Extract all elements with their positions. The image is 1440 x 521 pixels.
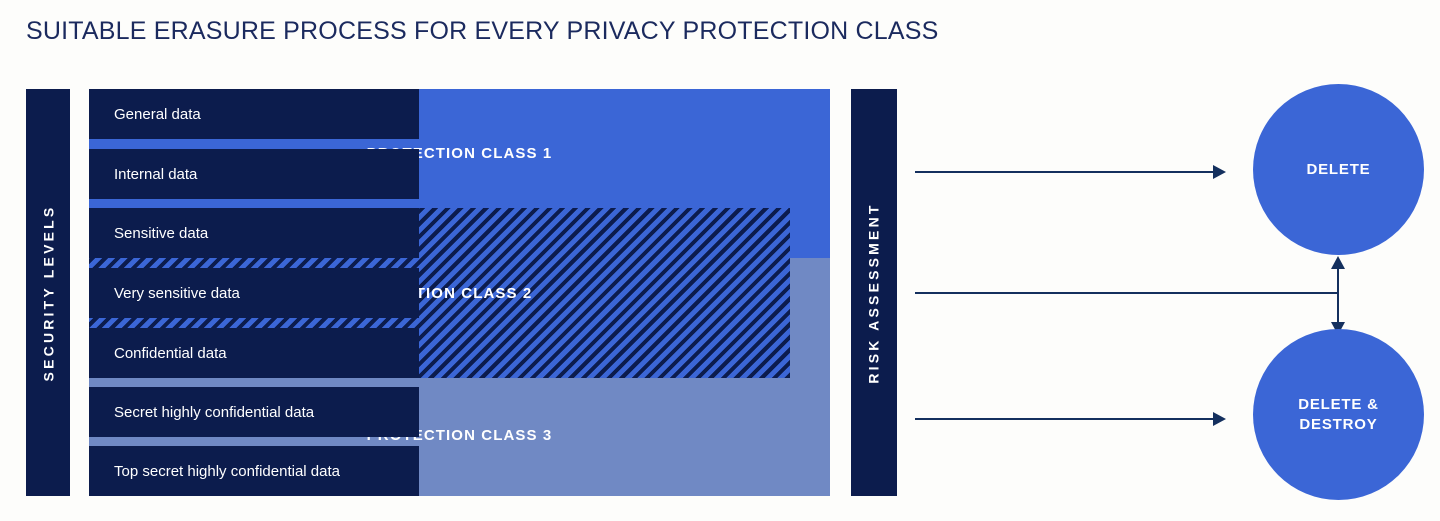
outcome-delete-destroy-label: DELETE & DESTROY bbox=[1298, 395, 1379, 435]
arrow-head-up-icon bbox=[1331, 256, 1345, 269]
outcome-line-2: DESTROY bbox=[1299, 416, 1377, 433]
security-level-row-very-sensitive-data[interactable]: Very sensitive data bbox=[89, 268, 419, 318]
security-levels-axis-label: SECURITY LEVELS bbox=[40, 204, 56, 381]
arrow-head-icon bbox=[1213, 412, 1226, 426]
outcome-delete-label: DELETE bbox=[1307, 160, 1371, 180]
arrow-class2-to-decision bbox=[915, 292, 1339, 294]
security-levels-axis-bar: SECURITY LEVELS bbox=[26, 89, 70, 496]
security-level-label: Sensitive data bbox=[89, 225, 208, 242]
security-level-label: Confidential data bbox=[89, 345, 227, 362]
arrow-class3-to-delete-destroy bbox=[915, 418, 1215, 420]
outcome-delete-destroy-circle[interactable]: DELETE & DESTROY bbox=[1253, 329, 1424, 500]
risk-assessment-axis-label: RISK ASSESSMENT bbox=[866, 202, 882, 383]
security-level-label: Internal data bbox=[89, 166, 197, 183]
security-level-row-secret-highly-confidential-data[interactable]: Secret highly confidential data bbox=[89, 387, 419, 437]
arrow-class1-to-delete bbox=[915, 171, 1215, 173]
risk-assessment-axis-bar: RISK ASSESSMENT bbox=[851, 89, 897, 496]
security-level-label: General data bbox=[89, 106, 201, 123]
outcome-delete-circle[interactable]: DELETE bbox=[1253, 84, 1424, 255]
security-level-label: Secret highly confidential data bbox=[89, 404, 314, 421]
security-level-row-general-data[interactable]: General data bbox=[89, 89, 419, 139]
security-level-row-confidential-data[interactable]: Confidential data bbox=[89, 328, 419, 378]
security-level-row-internal-data[interactable]: Internal data bbox=[89, 149, 419, 199]
page-title: SUITABLE ERASURE PROCESS FOR EVERY PRIVA… bbox=[26, 17, 939, 46]
security-level-row-sensitive-data[interactable]: Sensitive data bbox=[89, 208, 419, 258]
outcome-line-1: DELETE & bbox=[1298, 396, 1379, 413]
double-arrow-connector bbox=[1337, 266, 1339, 324]
security-level-label: Very sensitive data bbox=[89, 285, 240, 302]
arrow-head-icon bbox=[1213, 165, 1226, 179]
protection-class-matrix: PROTECTION CLASS 1 PROTECTION CLASS 2 PR… bbox=[89, 89, 830, 496]
security-level-label: Top secret highly confidential data bbox=[89, 463, 340, 480]
security-level-row-top-secret-highly-confidential-data[interactable]: Top secret highly confidential data bbox=[89, 446, 419, 496]
